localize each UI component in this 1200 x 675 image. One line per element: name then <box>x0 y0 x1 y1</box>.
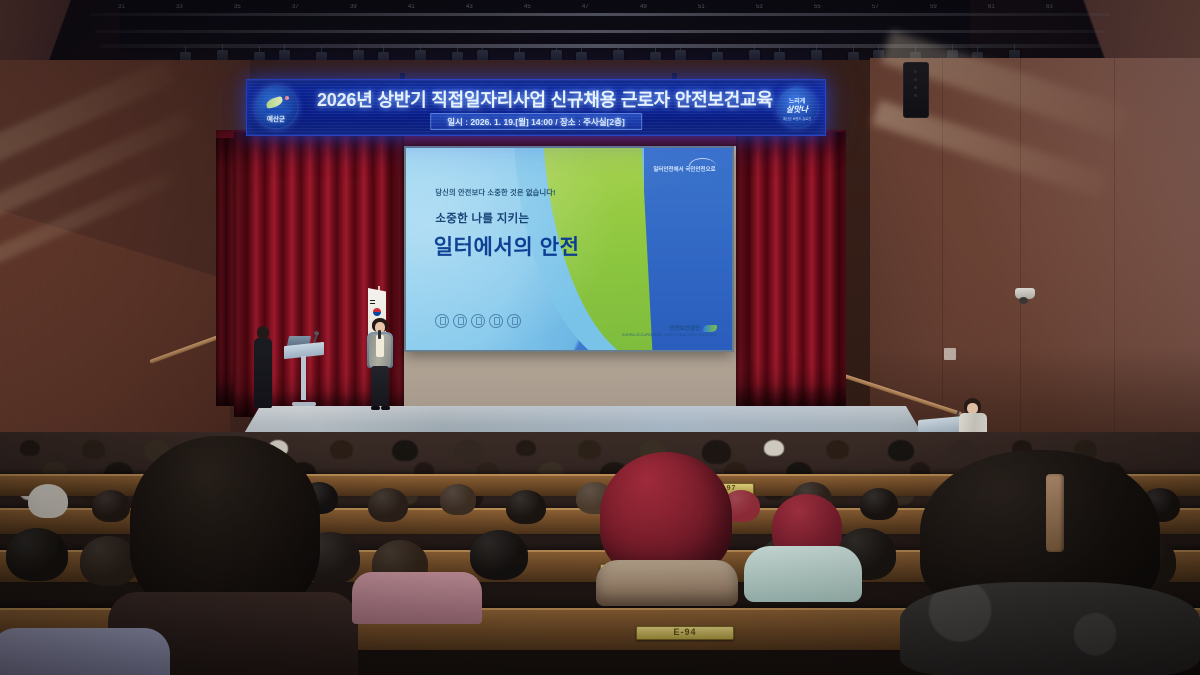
slogan-line-1: 일터안전에서 <box>653 167 683 173</box>
slide-kicker-text: 당신의 안전보다 소중한 것은 없습니다! <box>435 188 555 198</box>
truss-mark: 63 <box>1046 4 1053 10</box>
slide-icon-row <box>435 314 521 328</box>
truss-mark: 37 <box>292 4 299 10</box>
truss-mark: 59 <box>930 4 937 10</box>
led-banner: 예산군 2026년 상반기 직접일자리사업 신규채용 근로자 안전보건교육 일시… <box>246 79 826 136</box>
light-beam-left-1 <box>0 58 176 167</box>
wall-speaker-icon <box>903 62 929 118</box>
audience-head-far <box>826 440 849 459</box>
safety-icon-4 <box>489 314 503 328</box>
dot-icon <box>285 96 289 100</box>
truss-mark: 31 <box>118 4 125 10</box>
kosha-agency-logo: 안전보건공단 KOREA OCCUPATIONAL SAFETY AND HEA… <box>622 325 717 338</box>
truss-bar-3 <box>100 44 1100 48</box>
county-name: 예산군 <box>255 113 297 123</box>
truss-mark: 57 <box>872 4 879 10</box>
agency-name: 안전보건공단 <box>669 326 700 332</box>
audience-head-far <box>950 440 979 464</box>
truss-mark: 45 <box>524 4 531 10</box>
slide-subtitle: 소중한 나를 지키는 <box>435 210 529 226</box>
truss-mark: 47 <box>582 4 589 10</box>
agency-mark-icon <box>703 325 717 332</box>
audience-head-far <box>20 440 40 456</box>
truss-mark: 49 <box>640 4 647 10</box>
lectern-post <box>301 356 306 400</box>
security-camera-icon <box>1015 288 1035 299</box>
audience-head-mid <box>368 488 408 522</box>
audience-head-far <box>702 440 731 464</box>
truss-mark: 43 <box>466 4 473 10</box>
brand-slogan-badge: 느리게 살맛나 예산군 브랜드 슬로건 <box>777 87 817 127</box>
truss-mark: 41 <box>408 4 415 10</box>
presenter-with-microphone <box>365 318 395 410</box>
safety-icon-1 <box>435 314 449 328</box>
yesan-county-logo: 예산군 <box>255 86 297 128</box>
truss-mark: 53 <box>756 4 763 10</box>
presentation-slide: 일터안전에서 국민안전으로 당신의 안전보다 소중한 것은 없습니다! 소중한 … <box>406 148 732 350</box>
truss-mark: 51 <box>698 4 705 10</box>
audience-head-far <box>392 440 418 461</box>
curtain-right <box>736 132 846 410</box>
safety-icon-2 <box>453 314 467 328</box>
audience-head-far <box>764 440 784 456</box>
banner-subline: 일시 : 2026. 1. 19.[월] 14:00 / 장소 : 주사실[2층… <box>430 113 642 130</box>
audience-head-far <box>888 440 914 461</box>
audience-head-mid <box>440 484 476 515</box>
stage-assistant <box>252 326 274 408</box>
beanie-wearer-scarf <box>596 560 738 606</box>
projection-screen: 일터안전에서 국민안전으로 당신의 안전보다 소중한 것은 없습니다! 소중한 … <box>404 146 734 352</box>
audience-head-mid <box>92 490 130 522</box>
truss-mark: 35 <box>234 4 241 10</box>
truss-mark: 39 <box>350 4 357 10</box>
audience-head-mid <box>860 488 898 520</box>
auditorium-photo: 3133353739414345474951535557596163 <box>0 0 1200 675</box>
audience-head-far <box>454 440 483 464</box>
handheld-microphone-icon <box>378 330 381 339</box>
audience-head-far <box>578 440 601 459</box>
badge-line-3: 예산군 브랜드 슬로건 <box>777 116 817 121</box>
taegeuk-icon <box>373 308 381 316</box>
audience-head-mid <box>28 484 68 518</box>
truss-mark: 33 <box>176 4 183 10</box>
agency-name-en: KOREA OCCUPATIONAL SAFETY AND HEALTH AGE… <box>622 333 717 338</box>
truss-bar-2 <box>95 30 1105 33</box>
presenter-shoe-left <box>371 406 380 410</box>
presenter-shoe-right <box>381 406 390 410</box>
hair-claw-clip <box>1046 474 1064 552</box>
truss-mark: 61 <box>988 4 995 10</box>
slide-title: 일터에서의 안전 <box>434 231 580 261</box>
slogan-line-2: 국민안전으로 <box>685 167 715 173</box>
audience-head-near <box>6 528 68 581</box>
presenter-legs <box>371 366 389 406</box>
lavender-jacket <box>0 628 170 675</box>
mint-fleece-hood <box>744 546 862 602</box>
kosha-slogan-logo: 일터안전에서 국민안전으로 <box>653 158 715 174</box>
audience-seating: E-75E-97E-75E-76E-75E-76E-97E-93E-94 <box>0 432 1200 675</box>
truss-mark: 55 <box>814 4 821 10</box>
audience-head-mid <box>506 490 546 524</box>
badge-line-2: 살맛나 <box>777 104 817 115</box>
fur-collar-right <box>900 582 1200 675</box>
safety-icon-5 <box>507 314 521 328</box>
audience-head-near <box>470 530 528 580</box>
safety-icon-3 <box>471 314 485 328</box>
banner-headline: 2026년 상반기 직접일자리사업 신규채용 근로자 안전보건교육 <box>317 86 757 112</box>
wall-left <box>0 60 250 490</box>
wall-outlet-icon <box>944 348 956 360</box>
pink-puffer-shoulder <box>352 572 482 624</box>
foreground-left-hair <box>130 436 320 616</box>
swoosh-icon <box>689 158 716 166</box>
seat-number-plate: E-94 <box>636 626 734 640</box>
assistant-body <box>254 338 272 408</box>
truss-bar-1 <box>90 13 1110 16</box>
audience-head-far <box>516 440 536 456</box>
lectern-base <box>292 402 316 406</box>
audience-head-far <box>82 440 105 459</box>
audience-head-far <box>330 440 353 459</box>
lectern-with-laptop <box>284 344 324 406</box>
